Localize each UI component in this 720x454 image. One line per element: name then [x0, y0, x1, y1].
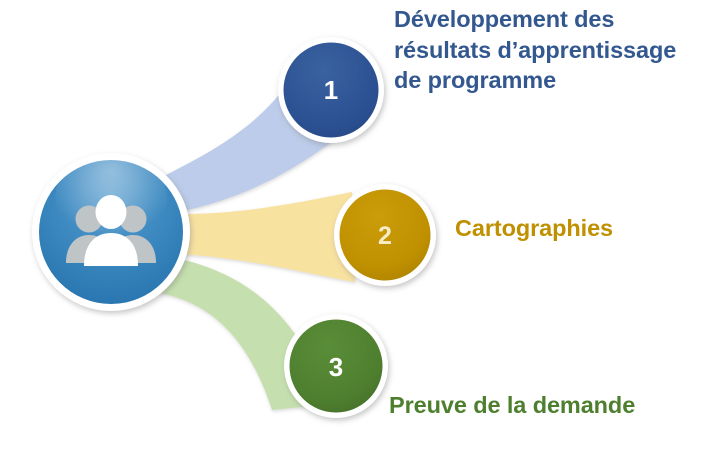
- node-2-label: Cartographies: [455, 213, 695, 244]
- node-2[interactable]: 2: [334, 184, 436, 286]
- node-3-number: 3: [329, 352, 343, 382]
- hub-node[interactable]: [32, 148, 190, 311]
- node-3-label: Preuve de la demande: [389, 390, 689, 421]
- node-2-number: 2: [378, 222, 392, 250]
- node-1-label: Développement des résultats d’apprentiss…: [394, 4, 704, 96]
- diagram-canvas: 1 2 3: [0, 0, 720, 454]
- node-1[interactable]: 1: [278, 37, 384, 143]
- node-3[interactable]: 3: [284, 314, 388, 418]
- node-1-number: 1: [324, 75, 338, 105]
